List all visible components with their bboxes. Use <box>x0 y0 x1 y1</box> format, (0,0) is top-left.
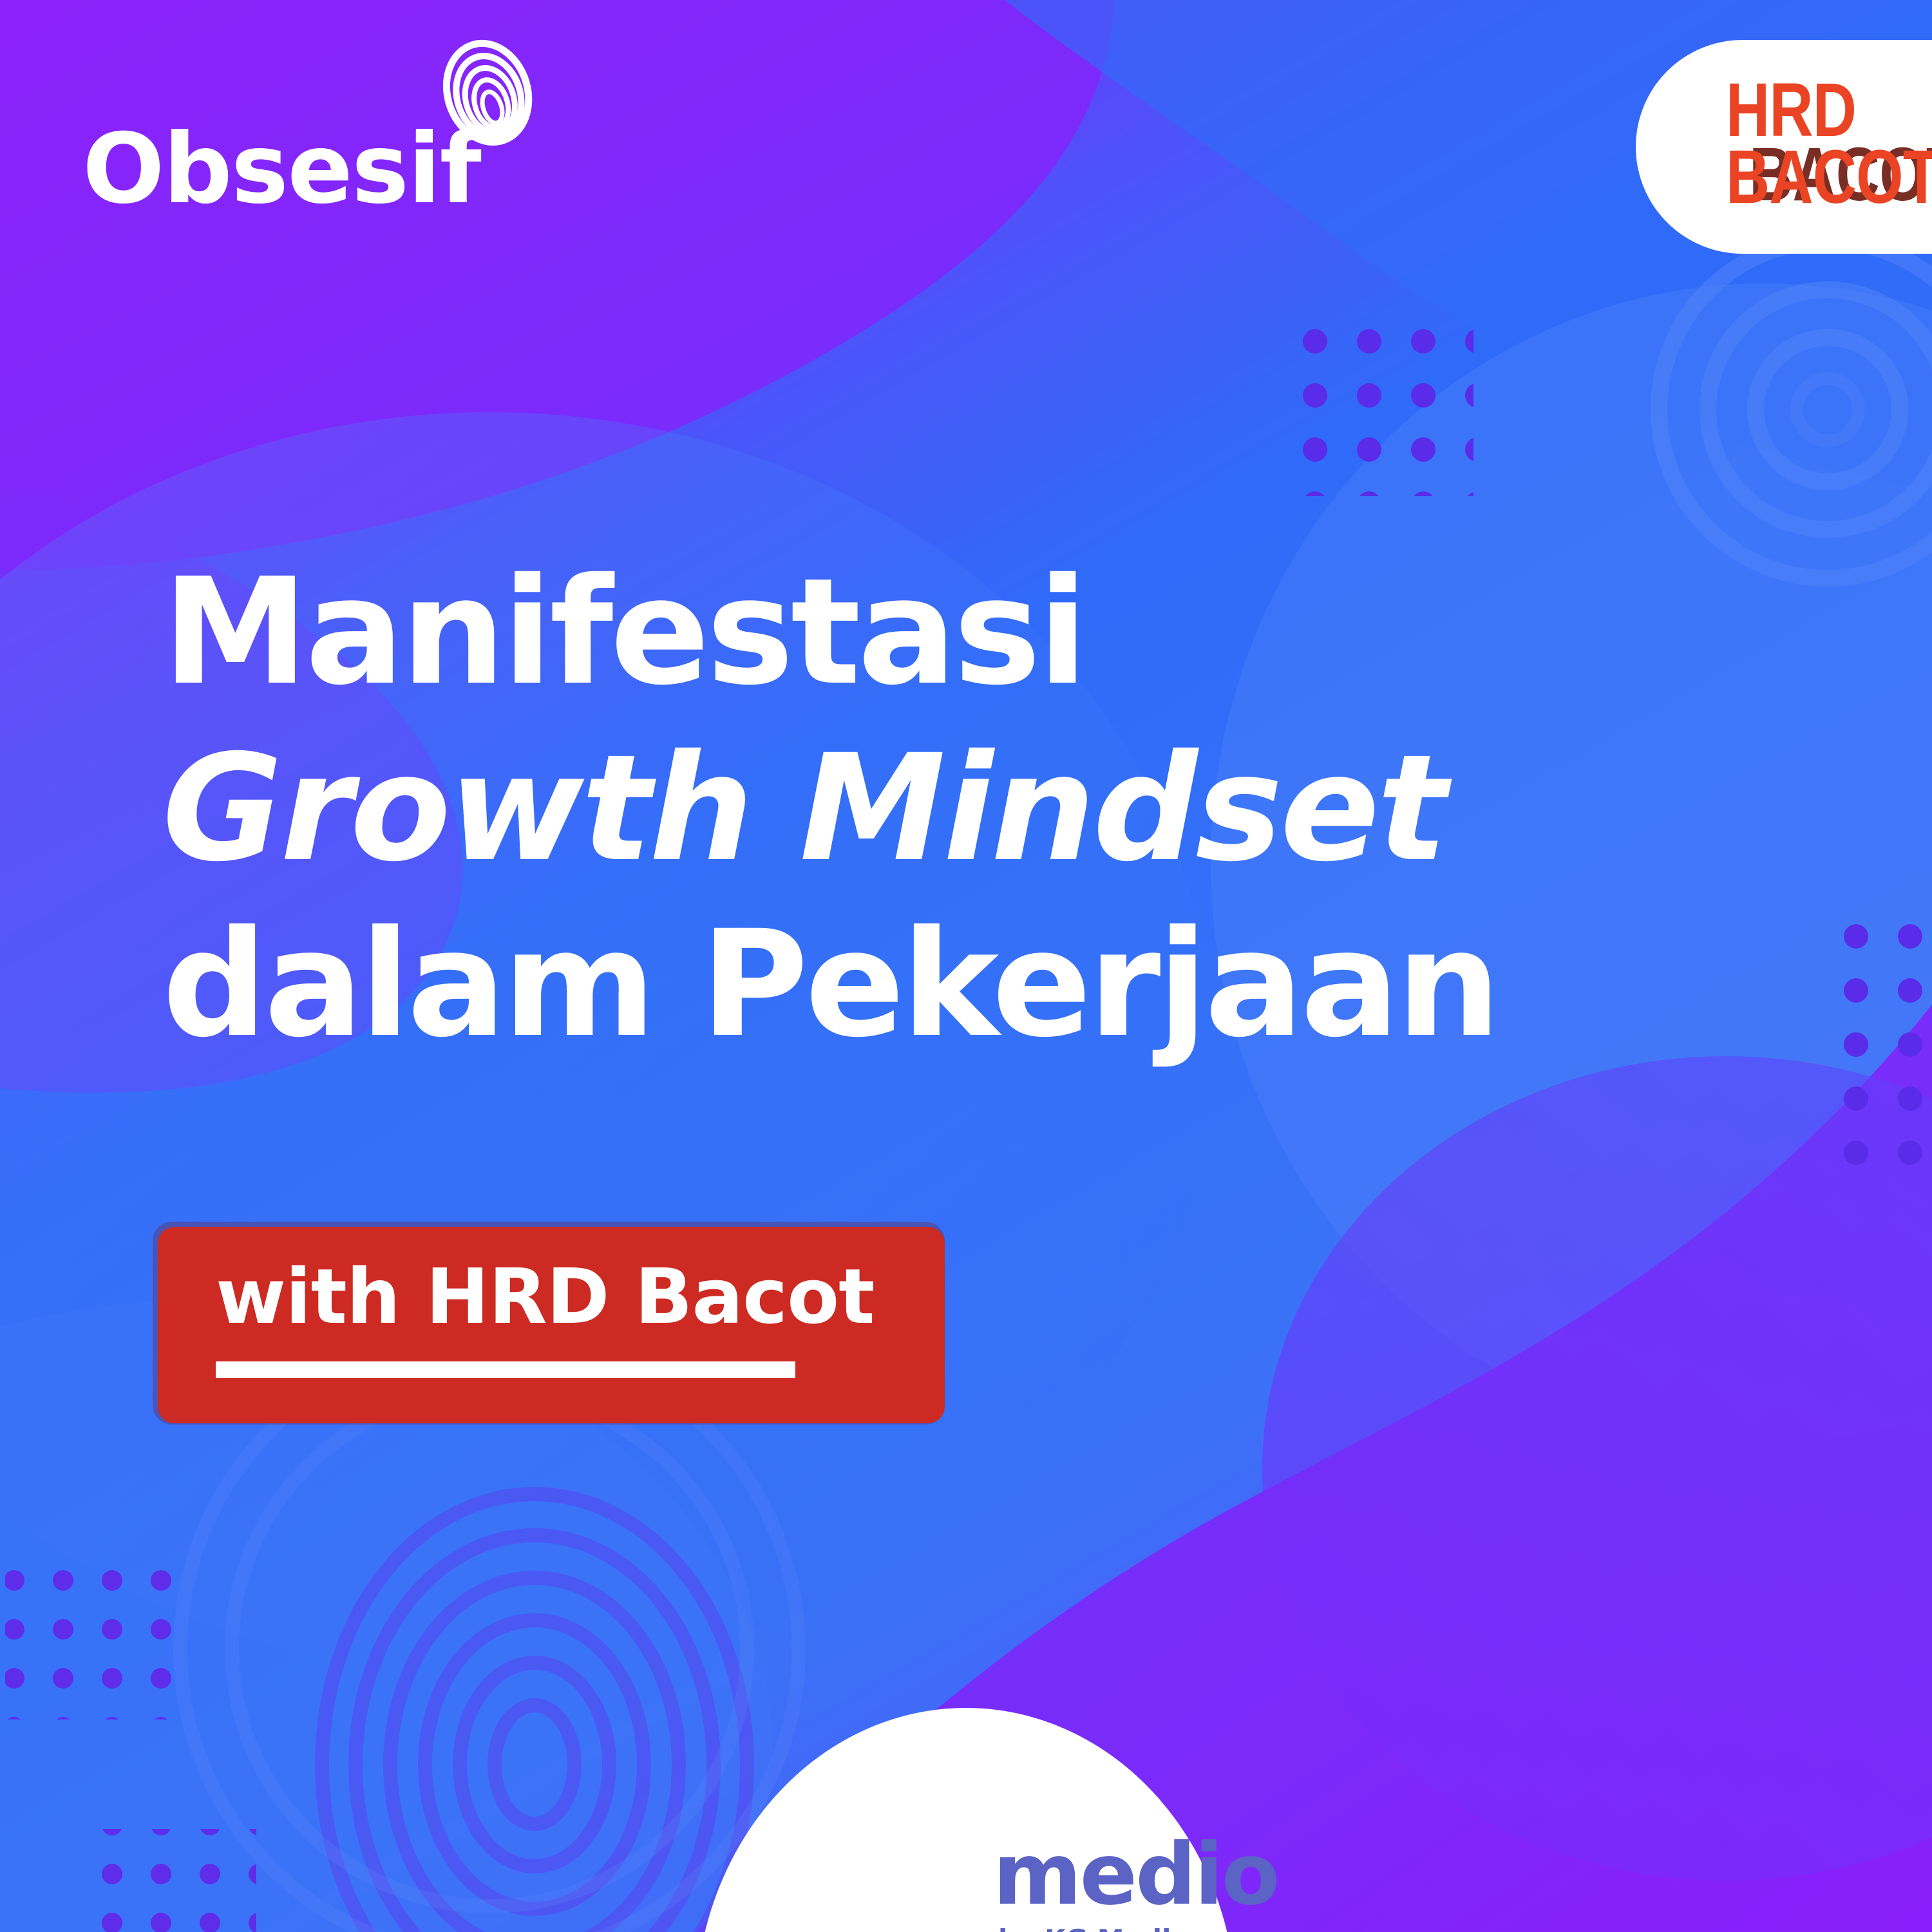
cta-label: with HRD Bacot <box>216 1258 887 1334</box>
obsesif-logo[interactable]: Obsesif <box>82 121 480 218</box>
audio-waveform-icon <box>786 1841 979 1932</box>
medio-logo[interactable]: medio by KG Media <box>786 1837 1278 1932</box>
medio-subtitle: by KG Media <box>998 1924 1189 1932</box>
title-line-3: dalam Pekerjaan <box>162 896 1708 1073</box>
fingerprint-arc-icon <box>433 37 543 156</box>
page-title: Manifestasi Growth Mindset dalam Pekerja… <box>162 544 1708 1073</box>
dot-grid-right-middle <box>1830 922 1932 1193</box>
hrd-bacot-logo: HRD BACOT BACOT <box>1726 78 1874 216</box>
title-line-2: Growth Mindset <box>162 721 1708 897</box>
dot-grid-bottom-left-lower <box>102 1829 256 1932</box>
podcast-cover-canvas: Obsesif HRD BACOT BACOT Manifestasi Grow… <box>0 0 1932 1932</box>
with-hrd-bacot-button[interactable]: with HRD Bacot <box>158 1227 945 1423</box>
medio-wordmark: medio <box>993 1837 1278 1913</box>
underline-bar <box>216 1361 795 1378</box>
dot-grid-bottom-left <box>5 1558 192 1719</box>
obsesif-wordmark: Obsesif <box>82 121 480 218</box>
guest-credit-block[interactable]: with HRD Bacot <box>158 1227 945 1423</box>
bacot-text: BACOT <box>1726 145 1932 210</box>
title-line-1: Manifestasi <box>162 544 1708 721</box>
dot-grid-top-right <box>1288 310 1473 496</box>
medio-text-block: medio by KG Media <box>993 1837 1278 1932</box>
hrd-bacot-badge[interactable]: HRD BACOT BACOT <box>1636 40 1932 254</box>
